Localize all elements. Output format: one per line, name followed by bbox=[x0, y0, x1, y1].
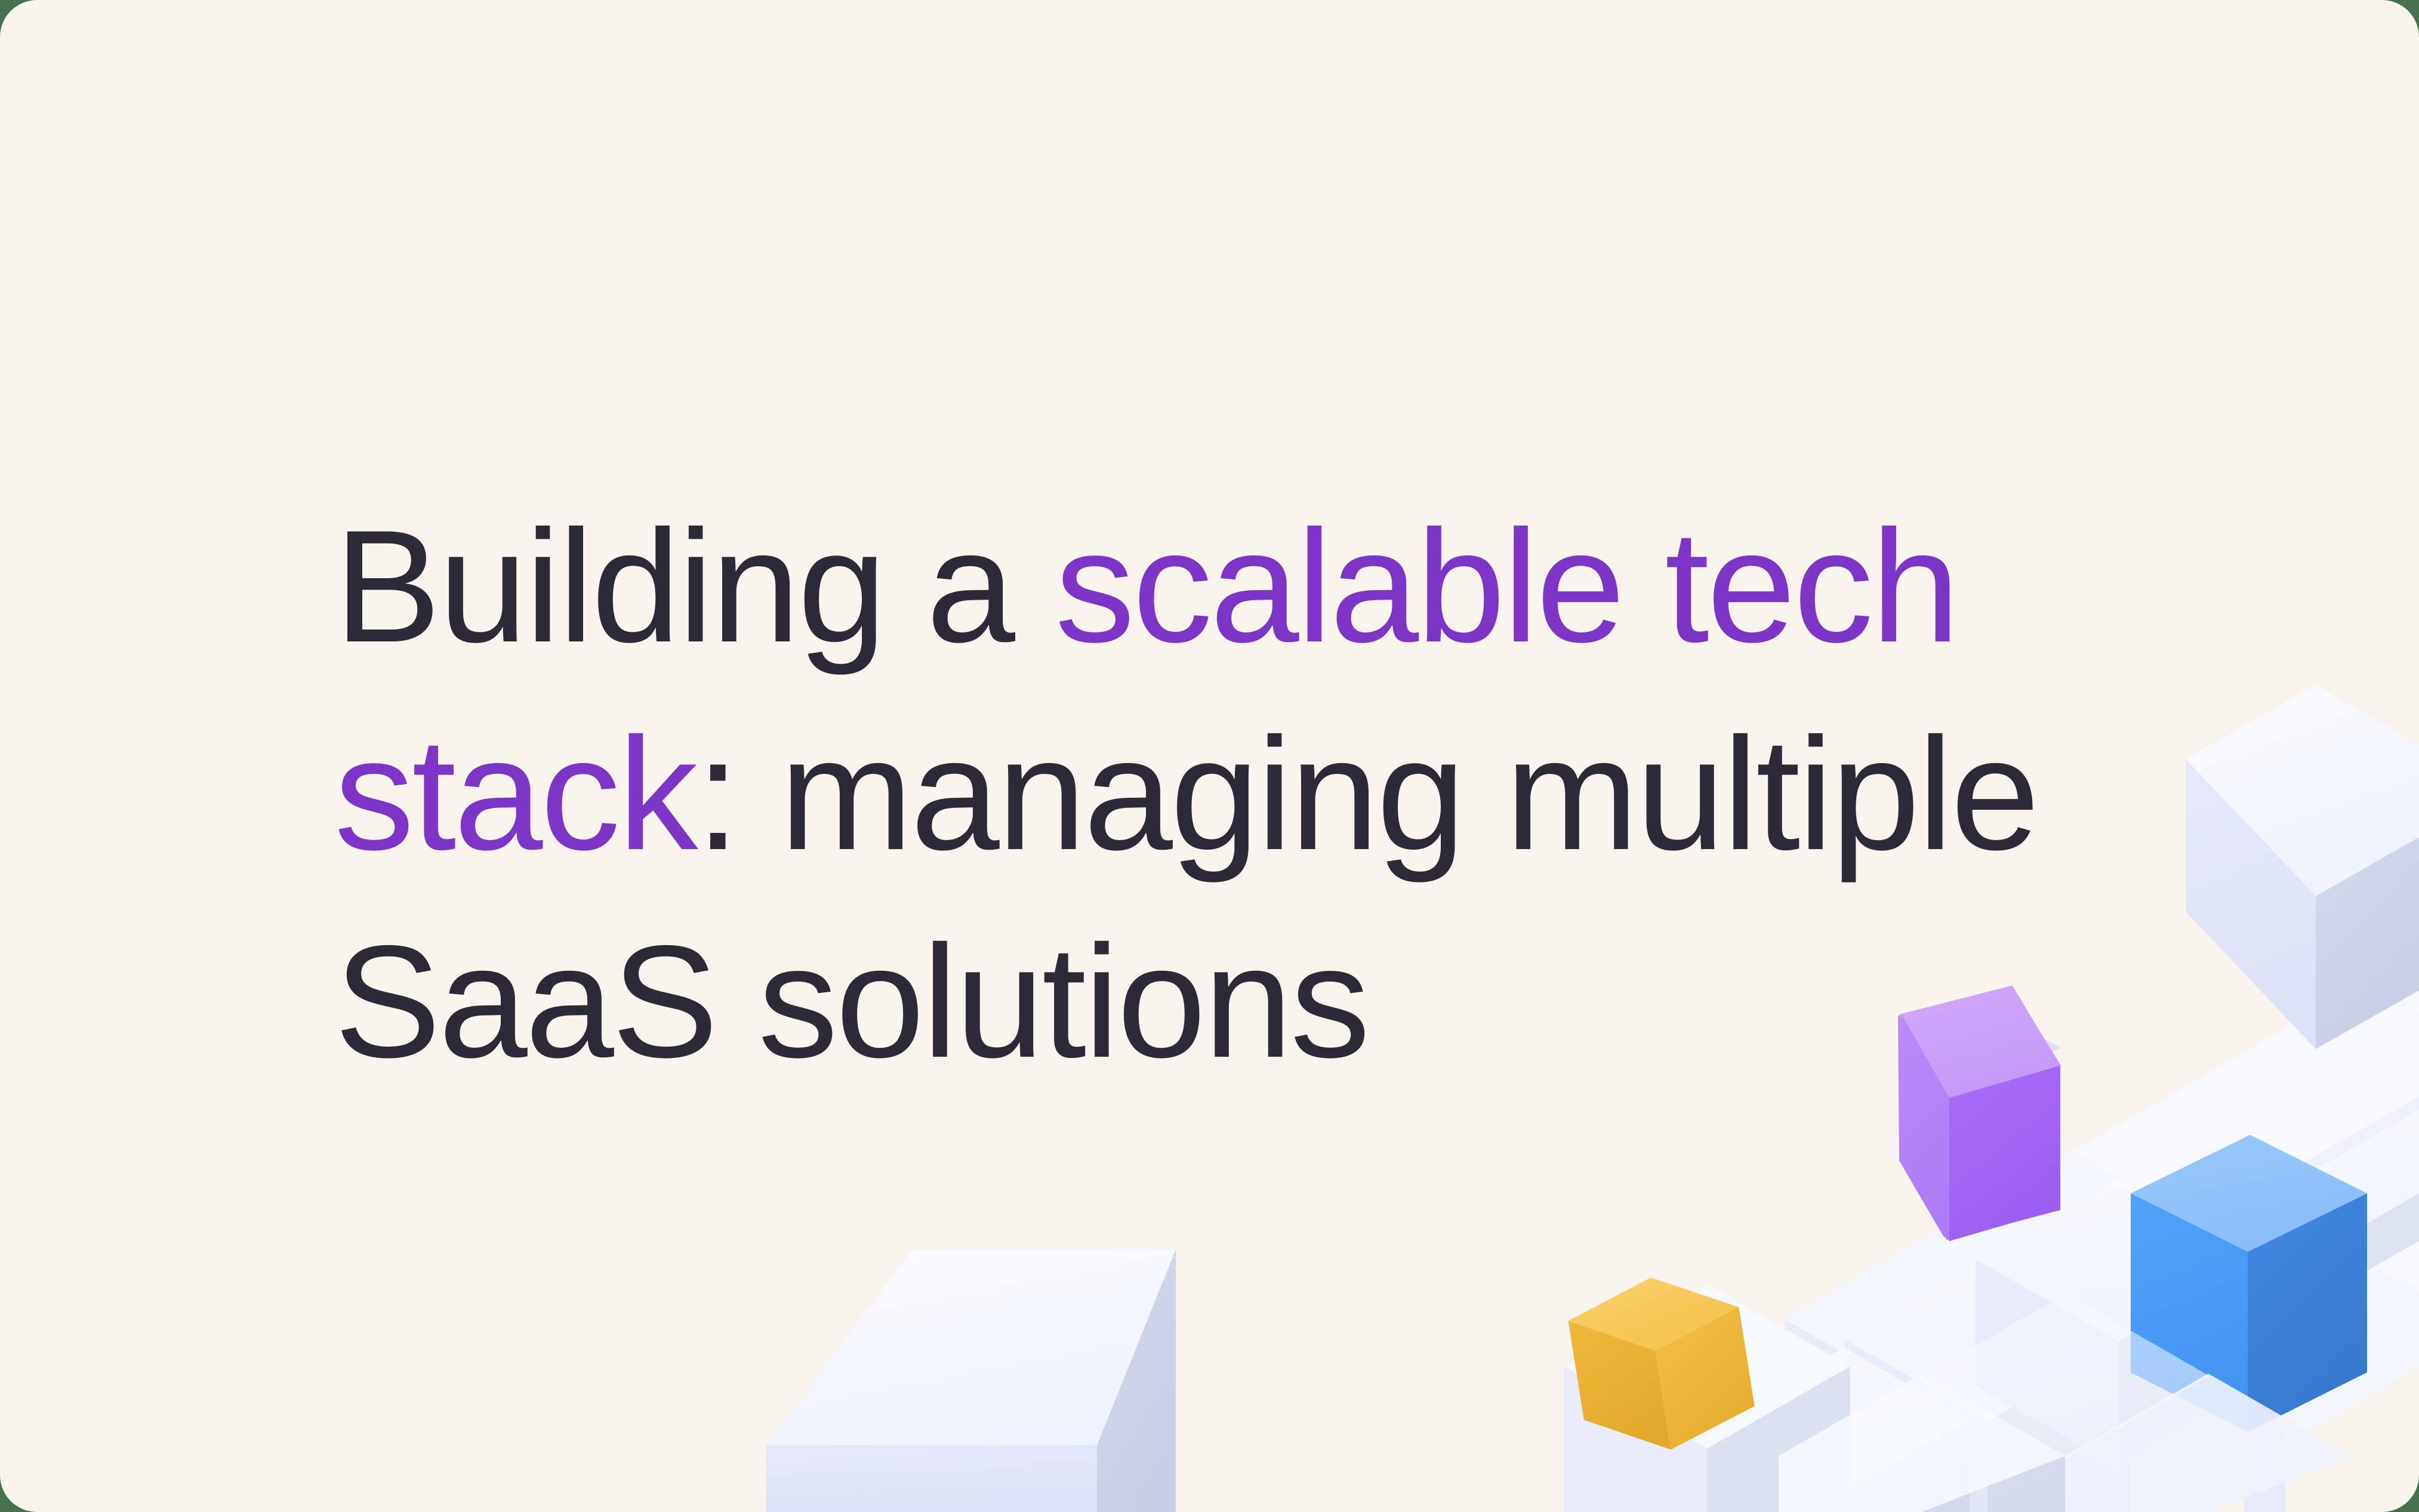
white-cube-top-right bbox=[2186, 685, 2419, 1049]
grid-cube-2 bbox=[1719, 1347, 1970, 1512]
grid-cube-1 bbox=[1844, 1257, 2131, 1512]
title-card: Building a scalable tech stack: managing… bbox=[0, 0, 2419, 1512]
grid-cube-3 bbox=[1976, 1177, 2262, 1468]
yellow-cube bbox=[1564, 1265, 1759, 1462]
blue-cube bbox=[2131, 1135, 2367, 1432]
foreground-grid-slabs bbox=[1779, 1294, 2352, 1512]
grid-cube-5 bbox=[2244, 1267, 2419, 1512]
page-title: Building a scalable tech stack: managing… bbox=[334, 482, 2065, 1106]
white-cube-mid-bottom bbox=[1564, 1284, 1850, 1512]
grid-cube-4 bbox=[2208, 1110, 2419, 1277]
title-segment-plain-1: Building a bbox=[334, 496, 1055, 675]
white-cube-large-bottom bbox=[766, 1249, 1176, 1512]
